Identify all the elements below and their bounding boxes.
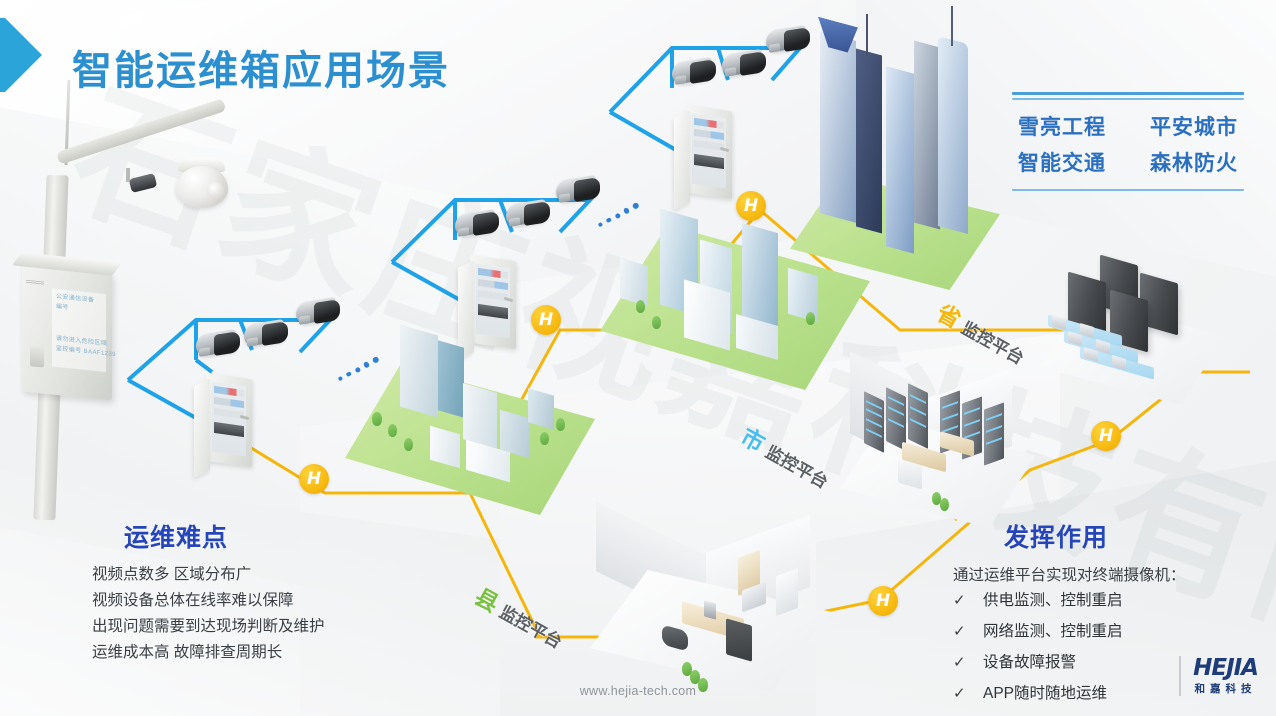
bullet-camera-icon	[296, 300, 342, 326]
tree-icon	[556, 418, 565, 431]
benefit-label: 设备故障报警	[983, 647, 1076, 678]
door	[776, 568, 798, 616]
skyscraper	[938, 36, 968, 234]
server-rack	[984, 402, 1004, 465]
pain-point-item: 视频设备总体在线率难以保障	[92, 588, 325, 614]
benefit-item: ✓ 设备故障报警	[953, 647, 1123, 678]
monitor-icon	[704, 600, 716, 619]
pain-point-item: 运维成本高 故障排查周期长	[92, 640, 325, 666]
logo-divider	[1179, 656, 1181, 696]
pain-point-item: 视频点数多 区域分布广	[92, 562, 325, 588]
city-building	[620, 258, 648, 306]
benefits-title: 发挥作用	[1004, 518, 1108, 554]
check-icon: ✓	[953, 585, 965, 616]
benefits-lead: 通过运维平台实现对终端摄像机：	[953, 563, 1186, 585]
tag-row: 智能交通 森林防火	[1012, 144, 1244, 180]
server-rack	[908, 383, 928, 449]
bullet-camera-icon	[455, 212, 501, 238]
cabinet-latch	[30, 346, 44, 367]
company-logo: HEJIA 和嘉科技	[1179, 656, 1258, 696]
hejia-node-icon: H	[531, 305, 561, 335]
hejia-node-icon: H	[1091, 421, 1121, 451]
scenario-tag-box: 雪亮工程 平安城市 智能交通 森林防火	[1012, 92, 1244, 191]
pain-point-item: 出现问题需要到达现场判断及维护	[92, 614, 325, 640]
cabinet-vent	[26, 280, 44, 286]
smart-ops-cabinet	[196, 376, 254, 472]
hejia-node-icon: H	[868, 586, 898, 616]
bullet-camera-icon	[244, 322, 290, 348]
desk-side	[726, 618, 752, 661]
town-building	[463, 383, 497, 449]
tree-icon	[404, 438, 413, 451]
dome-camera-icon	[176, 166, 228, 208]
tagbox-rule-top	[1012, 92, 1244, 95]
check-icon: ✓	[953, 616, 965, 647]
town-building	[400, 325, 438, 418]
skyscraper	[886, 66, 914, 254]
smart-ops-cabinet	[676, 108, 734, 204]
tree-icon	[636, 300, 645, 313]
skyscraper	[914, 41, 940, 230]
tagbox-rule-bottom	[1012, 189, 1244, 191]
footer-url: www.hejia-tech.com	[0, 684, 1276, 698]
skyscraper-spire	[866, 14, 868, 56]
server-rack	[864, 391, 884, 453]
tree-icon	[806, 312, 815, 325]
benefit-item: ✓ 供电监测、控制重启	[953, 585, 1123, 616]
tagbox-rows: 雪亮工程 平安城市 智能交通 森林防火	[1012, 100, 1244, 186]
benefit-item: ✓ 网络监测、控制重启	[953, 616, 1123, 647]
tag-row: 雪亮工程 平安城市	[1012, 108, 1244, 144]
bullet-camera-icon	[766, 28, 812, 54]
tag-jiaotong: 智能交通	[1018, 147, 1106, 177]
logo-mark: HEJIA 和嘉科技	[1193, 657, 1258, 695]
skyscraper	[820, 31, 856, 223]
skyscraper-spire	[951, 6, 953, 46]
tree-icon	[388, 424, 397, 437]
tag-senlin: 森林防火	[1150, 147, 1238, 177]
hejia-node-icon: H	[299, 464, 329, 494]
benefit-label: 供电监测、控制重启	[983, 585, 1123, 616]
check-icon: ✓	[953, 647, 965, 678]
logo-en: HEJIA	[1193, 657, 1258, 680]
bullet-camera-icon	[556, 178, 602, 204]
cabinet-label-line2: 编号	[56, 303, 69, 312]
smart-ops-cabinet	[460, 258, 518, 354]
town-building	[438, 340, 464, 417]
tree-icon	[540, 432, 549, 445]
hejia-node-icon: H	[736, 191, 766, 221]
roadside-cabinet: 公安通信设备 编号 请勿进入危险区域 监控编号 BAAF1239	[22, 263, 112, 400]
page-title: 智能运维箱应用场景	[72, 38, 450, 96]
slide-canvas: 石家庄视嘉科技有限公司	[0, 0, 1276, 716]
bullet-camera-icon	[196, 332, 242, 358]
skyscraper	[856, 49, 882, 234]
bullet-camera-icon	[722, 52, 768, 78]
tree-icon	[372, 412, 382, 426]
tag-pingan: 平安城市	[1150, 111, 1238, 141]
bullet-camera-icon	[672, 60, 718, 86]
logo-cn: 和嘉科技	[1195, 684, 1257, 695]
tree-icon	[940, 498, 949, 511]
town-building	[528, 388, 554, 429]
benefit-label: 网络监测、控制重启	[983, 616, 1123, 647]
bullet-camera-icon	[506, 202, 552, 228]
tag-xueliang: 雪亮工程	[1018, 111, 1106, 141]
pain-points-title: 运维难点	[124, 518, 228, 554]
pain-points-list: 视频点数多 区域分布广 视频设备总体在线率难以保障 出现问题需要到达现场判断及维…	[92, 562, 325, 666]
tree-icon	[652, 316, 661, 329]
